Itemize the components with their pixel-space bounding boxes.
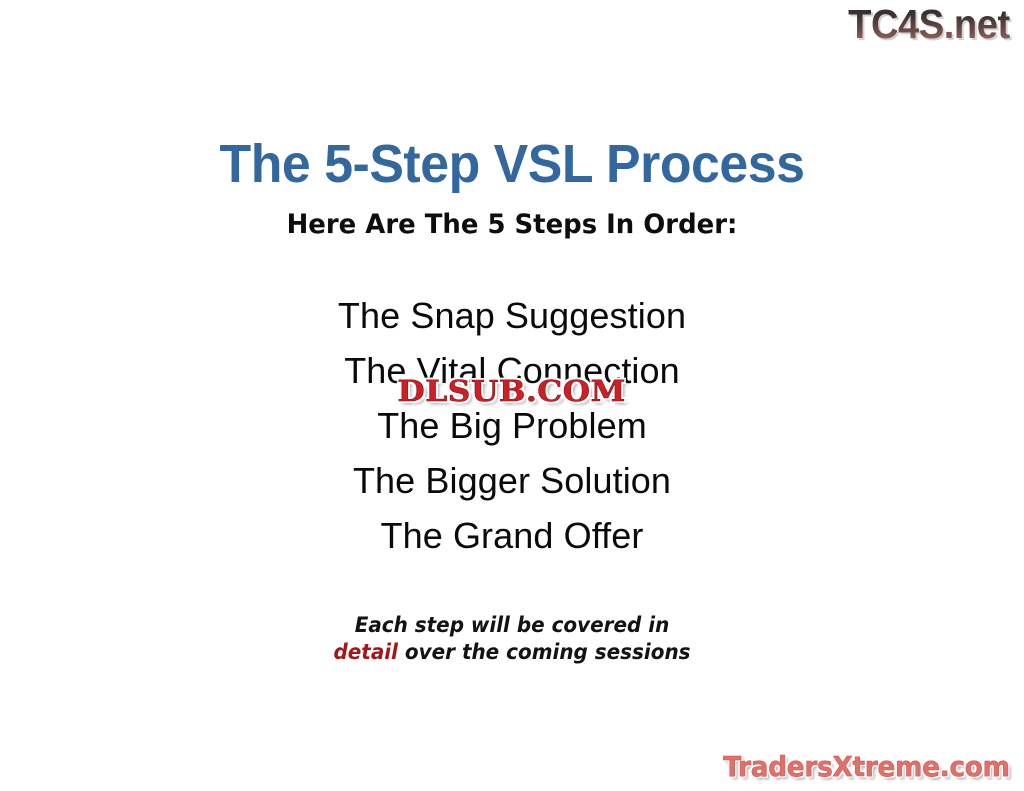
tradersxtreme-logo: TradersXtreme.com	[724, 752, 1010, 783]
footnote-line-2: detail over the coming sessions	[26, 639, 999, 666]
list-item: The Bigger Solution	[0, 453, 1024, 508]
steps-list: The Snap Suggestion The Vital Connection…	[0, 288, 1024, 563]
footnote: Each step will be covered in detail over…	[26, 612, 999, 666]
list-item: The Grand Offer	[0, 508, 1024, 563]
page-title: The 5-Step VSL Process	[20, 136, 1003, 193]
slide-canvas: TC4S.net TC4S.net The 5-Step VSL Process…	[0, 0, 1024, 791]
footnote-highlight: detail	[333, 640, 397, 664]
footnote-line-1: Each step will be covered in	[26, 612, 999, 639]
list-item: The Vital Connection	[0, 343, 1024, 398]
page-subtitle: Here Are The 5 Steps In Order:	[20, 210, 1003, 240]
list-item: The Snap Suggestion	[0, 288, 1024, 343]
list-item: The Big Problem	[0, 398, 1024, 453]
footnote-line-2-rest: over the coming sessions	[398, 640, 691, 664]
tc4s-logo: TC4S.net	[848, 2, 1010, 47]
